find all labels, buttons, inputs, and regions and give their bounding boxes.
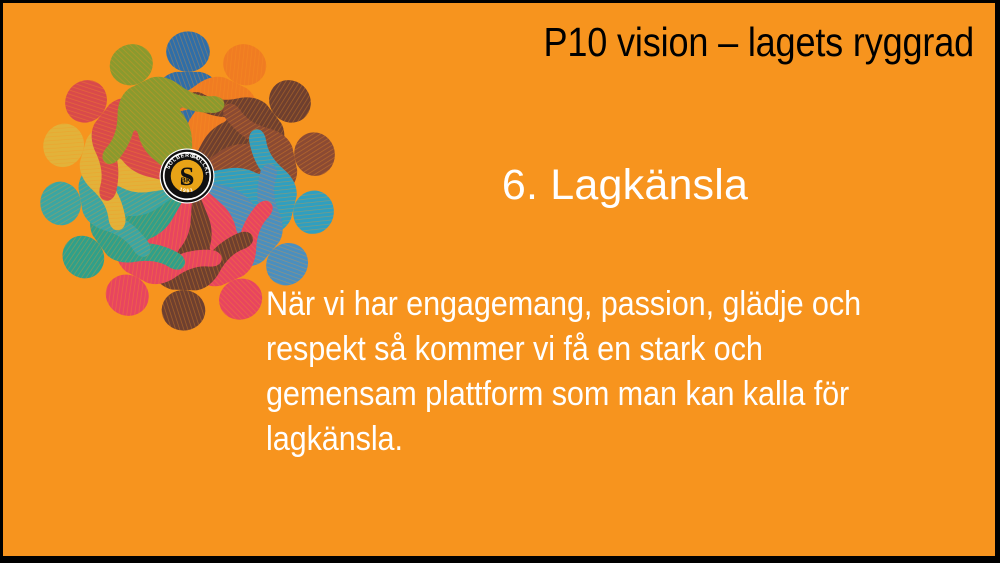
frame-bottom-edge [0,556,1000,563]
badge-sub-monogram: BK [181,176,192,185]
body-paragraph: När vi har engagemang, passion, glädje o… [266,282,907,462]
slide-canvas: SOLBERGA BOLLKLUBB 1961 S BK P10 vision … [0,0,1000,563]
section-heading: 6. Lagkänsla [275,160,975,210]
frame-right-edge [995,0,1000,563]
solberga-bollklubb-logo: SOLBERGA BOLLKLUBB 1961 S BK [159,148,215,204]
frame-left-edge [0,0,3,563]
page-title: P10 vision – lagets ryggrad [117,18,974,66]
frame-top-edge [0,0,1000,3]
